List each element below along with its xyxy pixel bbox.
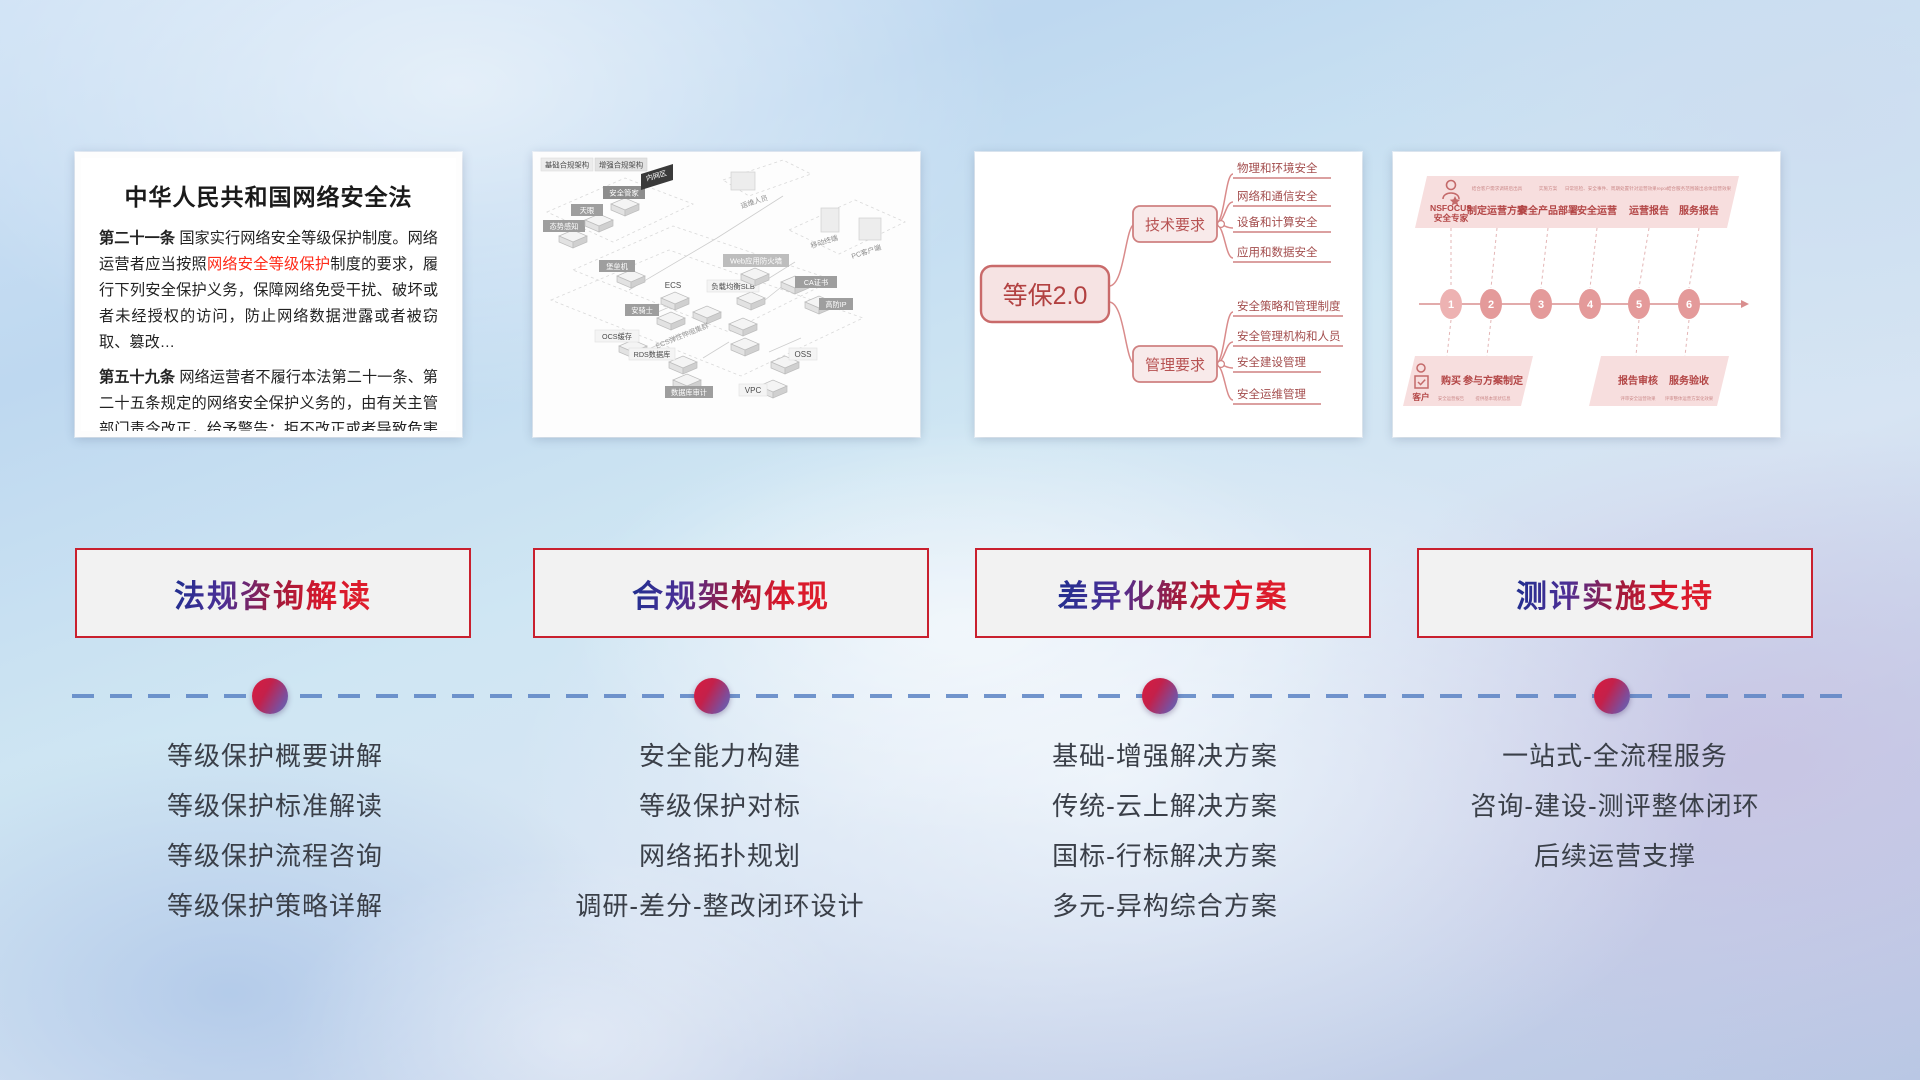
mindmap-root: 等保2.0 (1003, 282, 1088, 310)
arch-node-label: ECS (665, 281, 681, 290)
list-item: 等级保护对标 (500, 788, 940, 824)
mindmap-leaf: 网络和通信安全 (1237, 189, 1318, 203)
timeline-dot-4 (1594, 678, 1630, 714)
law-seg-highlight: 网络安全等级保护 (207, 256, 330, 273)
arch-node-label: CA证书 (804, 278, 828, 287)
list-item: 国标-行标解决方案 (945, 838, 1385, 874)
article-number-21: 第二十一条 (99, 230, 175, 247)
timeline-svg: NSFOCUS 安全专家 结合客户需求调研后出具 制定运营方案 实施方案 安全产… (1393, 152, 1768, 425)
timeline-top-title: 安全产品部署 (1518, 204, 1578, 217)
timeline-top-title: 服务报告 (1679, 204, 1719, 217)
timeline-top-title: 安全运营 (1577, 204, 1617, 217)
section-items-row: 等级保护概要讲解 等级保护标准解读 等级保护流程咨询 等级保护策略详解 安全能力… (0, 738, 1920, 1038)
arch-node-label: 堡垒机 (606, 262, 628, 271)
mindmap-diagram: 等保2.0 技术要求 物理和环境安全 网络和通信安全 设备和计算安全 应用和数据… (975, 152, 1362, 437)
section-title-row: 法规咨询解读 合规架构体现 差异化解决方案 测评实施支持 (0, 548, 1920, 644)
image-card-row: 中华人民共和国网络安全法 第二十一条 国家实行网络安全等级保护制度。网络运营者应… (0, 152, 1920, 442)
law-title: 中华人民共和国网络安全法 (99, 178, 438, 212)
timeline-top-caption: 实施方案 (1539, 185, 1558, 192)
arch-node-label: OSS (795, 350, 812, 359)
section-title-label: 差异化解决方案 (1058, 571, 1289, 616)
timeline-bottom-caption: 安全运营报告 (1438, 395, 1465, 402)
timeline-step: 3 (1538, 299, 1544, 311)
mindmap-leaf: 设备和计算安全 (1237, 215, 1318, 229)
law-paragraph-21: 第二十一条 国家实行网络安全等级保护制度。网络运营者应当按照网络安全等级保护制度… (99, 226, 438, 356)
timeline-dot-3 (1142, 678, 1178, 714)
list-item: 咨询-建设-测评整体闭环 (1395, 788, 1835, 824)
arch-node-label: 安骑士 (631, 306, 653, 315)
timeline-diagram: NSFOCUS 安全专家 结合客户需求调研后出具 制定运营方案 实施方案 安全产… (1393, 152, 1780, 437)
arch-node-label: 安全管家 (609, 189, 639, 198)
timeline-top-caption: 结合服务范围输出总体运营效果 (1667, 185, 1732, 192)
timeline-bottom-caption: 评审安全运营效果 (1620, 395, 1656, 402)
arch-node-label: 天眼 (580, 206, 594, 215)
section-title-label: 法规咨询解读 (174, 571, 372, 616)
cloud-architecture-card: 基础合规架构 增强合规架构 (533, 152, 920, 437)
timeline-dot-1 (252, 678, 288, 714)
section-items-1: 等级保护概要讲解 等级保护标准解读 等级保护流程咨询 等级保护策略详解 (55, 738, 495, 938)
section-title-box-3[interactable]: 差异化解决方案 (975, 548, 1371, 638)
arch-node-label: OCS缓存 (602, 332, 632, 341)
arch-node-label: 数据库审计 (671, 388, 707, 397)
section-title-label: 测评实施支持 (1516, 571, 1714, 616)
article-number-59: 第五十九条 (99, 369, 175, 386)
mindmap-branch-label: 技术要求 (1145, 217, 1205, 234)
timeline-bottom-title: 参与方案制定 (1463, 374, 1523, 387)
timeline-step: 1 (1448, 299, 1454, 311)
section-title-box-1[interactable]: 法规咨询解读 (75, 548, 471, 638)
list-item: 一站式-全流程服务 (1395, 738, 1835, 774)
timeline-top-actor-line2: 安全专家 (1434, 212, 1469, 223)
timeline-step: 6 (1686, 299, 1692, 311)
timeline-step: 2 (1488, 299, 1494, 311)
list-item: 等级保护流程咨询 (55, 838, 495, 874)
timeline-bottom-caption: 评审整体运营方案化效果 (1665, 395, 1714, 402)
timeline-bottom-actor: 客户 (1411, 391, 1429, 402)
list-item: 安全能力构建 (500, 738, 940, 774)
law-card-inner: 中华人民共和国网络安全法 第二十一条 国家实行网络安全等级保护制度。网络运营者应… (81, 158, 456, 431)
timeline-top-caption: 针对运营效果report (1629, 185, 1669, 192)
mindmap-leaf: 安全运维管理 (1237, 387, 1306, 401)
arch-tab-0: 基础合规架构 (545, 161, 589, 170)
list-item: 基础-增强解决方案 (945, 738, 1385, 774)
law-paragraph-59: 第五十九条 网络运营者不履行本法第二十一条、第二十五条规定的网络安全保护义务的，… (99, 365, 438, 431)
mindmap-leaf: 安全建设管理 (1237, 355, 1306, 369)
list-item: 调研-差分-整改闭环设计 (500, 888, 940, 924)
section-items-4: 一站式-全流程服务 咨询-建设-测评整体闭环 后续运营支撑 (1395, 738, 1835, 888)
mindmap-leaf: 应用和数据安全 (1237, 245, 1318, 259)
section-title-box-2[interactable]: 合规架构体现 (533, 548, 929, 638)
list-item: 后续运营支撑 (1395, 838, 1835, 874)
list-item: 等级保护概要讲解 (55, 738, 495, 774)
arch-tab-1: 增强合规架构 (599, 161, 643, 170)
timeline-bottom-title: 购买 (1441, 374, 1461, 387)
arch-node-label: 态势感知 (550, 222, 579, 231)
timeline-dot-2 (694, 678, 730, 714)
timeline-bottom-title: 服务验收 (1669, 374, 1709, 387)
timeline-top-actor-line1: NSFOCUS (1430, 203, 1472, 213)
list-item: 等级保护标准解读 (55, 788, 495, 824)
section-items-2: 安全能力构建 等级保护对标 网络拓扑规划 调研-差分-整改闭环设计 (500, 738, 940, 938)
arch-node-label: Web应用防火墙 (730, 257, 783, 266)
section-items-3: 基础-增强解决方案 传统-云上解决方案 国标-行标解决方案 多元-异构综合方案 (945, 738, 1385, 938)
law-text-card: 中华人民共和国网络安全法 第二十一条 国家实行网络安全等级保护制度。网络运营者应… (75, 152, 462, 437)
arch-node-label: 高防IP (825, 300, 846, 309)
arch-node-label: VPC (745, 386, 762, 395)
timeline-step: 5 (1636, 299, 1642, 311)
law-body: 中华人民共和国网络安全法 第二十一条 国家实行网络安全等级保护制度。网络运营者应… (81, 158, 456, 431)
section-title-box-4[interactable]: 测评实施支持 (1417, 548, 1813, 638)
mindmap-leaf: 安全策略和管理制度 (1237, 299, 1341, 313)
architecture-diagram: 基础合规架构 增强合规架构 (533, 152, 920, 437)
mindmap-leaf: 安全管理机构和人员 (1237, 329, 1341, 343)
nsfocus-service-timeline-card: NSFOCUS 安全专家 结合客户需求调研后出具 制定运营方案 实施方案 安全产… (1393, 152, 1780, 437)
timeline-bottom-title: 报告审核 (1618, 374, 1658, 387)
timeline-step: 4 (1587, 299, 1594, 311)
architecture-svg: 基础合规架构 增强合规架构 (533, 152, 908, 425)
list-item: 网络拓扑规划 (500, 838, 940, 874)
timeline-top-caption: 结合客户需求调研后出具 (1472, 185, 1523, 192)
list-item: 等级保护策略详解 (55, 888, 495, 924)
timeline-bottom-caption: 提供基本现状信息 (1475, 395, 1511, 402)
arch-node-label: RDS数据库 (634, 350, 671, 359)
mindmap-branch-label: 管理要求 (1145, 357, 1205, 374)
timeline-rail (72, 694, 1852, 698)
timeline-top-title: 运营报告 (1629, 204, 1669, 217)
dengbao-mindmap-card: 等保2.0 技术要求 物理和环境安全 网络和通信安全 设备和计算安全 应用和数据… (975, 152, 1362, 437)
section-title-label: 合规架构体现 (632, 571, 830, 616)
mindmap-svg: 等保2.0 技术要求 物理和环境安全 网络和通信安全 设备和计算安全 应用和数据… (975, 152, 1350, 425)
timeline-top-caption: 日常巡检、安全事件、周期处置 (1565, 185, 1630, 192)
mindmap-leaf: 物理和环境安全 (1237, 161, 1318, 175)
list-item: 传统-云上解决方案 (945, 788, 1385, 824)
list-item: 多元-异构综合方案 (945, 888, 1385, 924)
